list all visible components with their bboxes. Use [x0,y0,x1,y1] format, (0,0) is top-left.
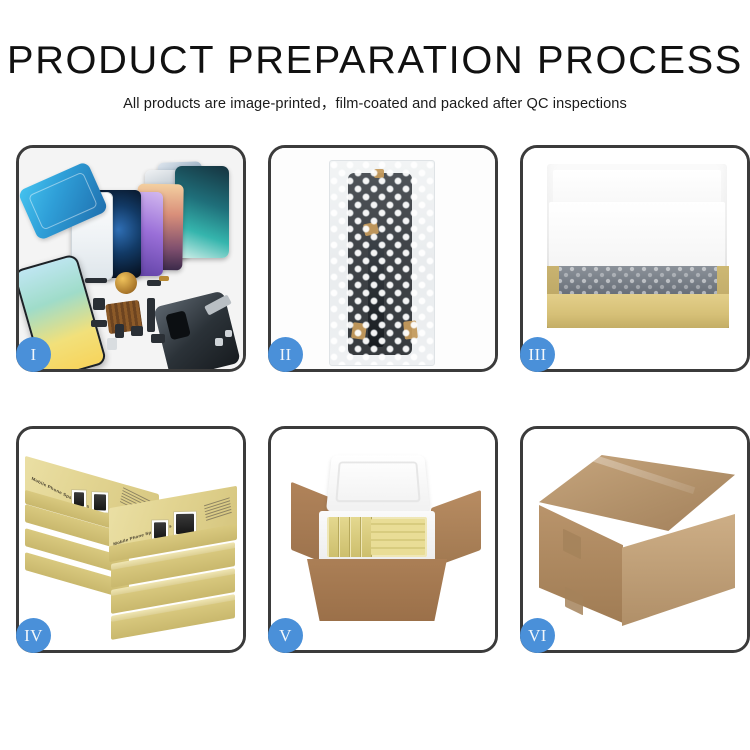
page-header: PRODUCT PREPARATION PROCESS All products… [0,0,750,113]
bubble-wrap-bag [329,160,435,366]
page-subtitle: All products are image-printed，film-coat… [0,92,750,113]
bubble-texture [557,266,719,296]
step-image-products-and-parts [19,148,243,369]
vibration-motor-part [115,272,137,294]
kraft-box-front [547,294,729,328]
carton-right-face [622,514,735,626]
step-badge-6: VI [520,618,555,653]
foam-lid-open [326,455,430,511]
carton-flap-right [431,490,481,568]
bubble-texture-overlay [330,161,434,365]
small-part-4 [93,298,105,310]
packed-box-slot-2 [340,517,350,557]
packed-box-slot-3 [351,517,361,557]
step-card-3: III [520,145,750,372]
packed-box-group-flat [371,519,425,555]
step-badge-1: I [16,337,51,372]
step-image-bubble-wrapped-screen [271,148,495,369]
step-card-2: II [268,145,498,372]
small-part-3 [159,276,169,281]
flex-cable-part [147,298,155,332]
product-preparation-infographic: PRODUCT PREPARATION PROCESS All products… [0,0,750,750]
step-image-carton-with-foam-liner [271,429,495,650]
packed-yellow-boxes [327,517,427,557]
step-image-stacked-retail-boxes: Mobile Phone Spare Parts Mobile Phone Sp… [19,429,243,650]
box-stack: Mobile Phone Spare Parts Mobile Phone Sp… [23,447,239,639]
step-badge-5: V [268,618,303,653]
small-part-9 [107,338,117,350]
foam-sheet [549,202,725,274]
packed-box-slot-1 [329,517,339,557]
step-card-1: I [16,145,246,372]
step-image-sealed-shipping-carton [523,429,747,650]
small-part-6 [115,324,124,338]
step-image-foam-lined-inner-box [523,148,747,369]
bubble-wrapped-contents [557,266,719,296]
process-step-grid: I II [16,145,734,653]
page-title: PRODUCT PREPARATION PROCESS [0,40,750,81]
step-card-5: V [268,426,498,653]
small-part-7 [131,326,143,336]
small-part-1 [85,278,107,283]
small-part-5 [91,320,107,327]
screw-part-2 [225,330,232,337]
small-part-8 [151,334,165,343]
step-badge-4: IV [16,618,51,653]
screw-part-1 [215,338,223,346]
box-spec-lines-front [204,497,232,523]
step-card-4: Mobile Phone Spare Parts Mobile Phone Sp… [16,426,246,653]
small-part-2 [147,280,161,286]
step-badge-2: II [268,337,303,372]
step-card-6: VI [520,426,750,653]
carton-body [307,559,447,621]
step-badge-3: III [520,337,555,372]
